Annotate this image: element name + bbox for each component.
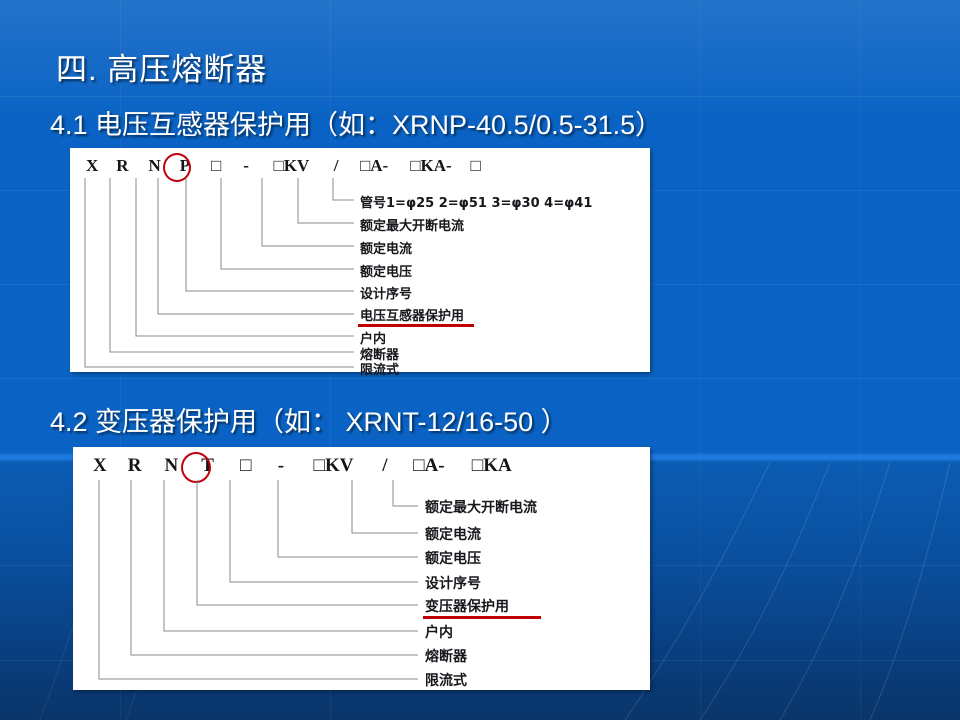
section-heading-4-1: 4.1 电压互感器保护用（如：XRNP-40.5/0.5-31.5）: [50, 103, 662, 142]
section-heading-4-2: 4.2 变压器保护用（如： XRNT-12/16-50 ）: [50, 400, 568, 439]
label-rated-breaking-current: 额定最大开断电流: [360, 215, 464, 234]
label2-rated-current: 额定电流: [425, 524, 481, 544]
label2-current-limiting: 限流式: [425, 670, 467, 690]
diagram-panel-4-2: X R N T □ - □KV / □A- □KA: [73, 447, 650, 690]
red-underline-4-2: [423, 616, 541, 619]
label2-design-serial: 设计序号: [425, 573, 481, 593]
label-current-limiting: 限流式: [360, 359, 399, 378]
label-rated-voltage: 额定电压: [360, 261, 412, 280]
label2-rated-breaking-current: 额定最大开断电流: [425, 497, 537, 517]
label2-transformer-protection: 变压器保护用: [425, 596, 509, 616]
label2-indoor: 户内: [425, 622, 453, 642]
label-rated-current: 额定电流: [360, 238, 412, 257]
leader-lines-4-2: [73, 447, 650, 690]
label2-fuse: 熔断器: [425, 646, 467, 666]
label-tube-number: 管号1=φ25 2=φ51 3=φ30 4=φ41: [360, 192, 592, 211]
diagram-panel-4-1: X R N P □ - □KV / □A- □KA- □: [70, 148, 650, 372]
red-underline-4-1: [358, 324, 474, 327]
label2-rated-voltage: 额定电压: [425, 548, 481, 568]
label-design-serial: 设计序号: [360, 283, 412, 302]
label-pt-protection: 电压互感器保护用: [360, 305, 464, 324]
page-title: 四. 高压熔断器: [56, 44, 267, 89]
